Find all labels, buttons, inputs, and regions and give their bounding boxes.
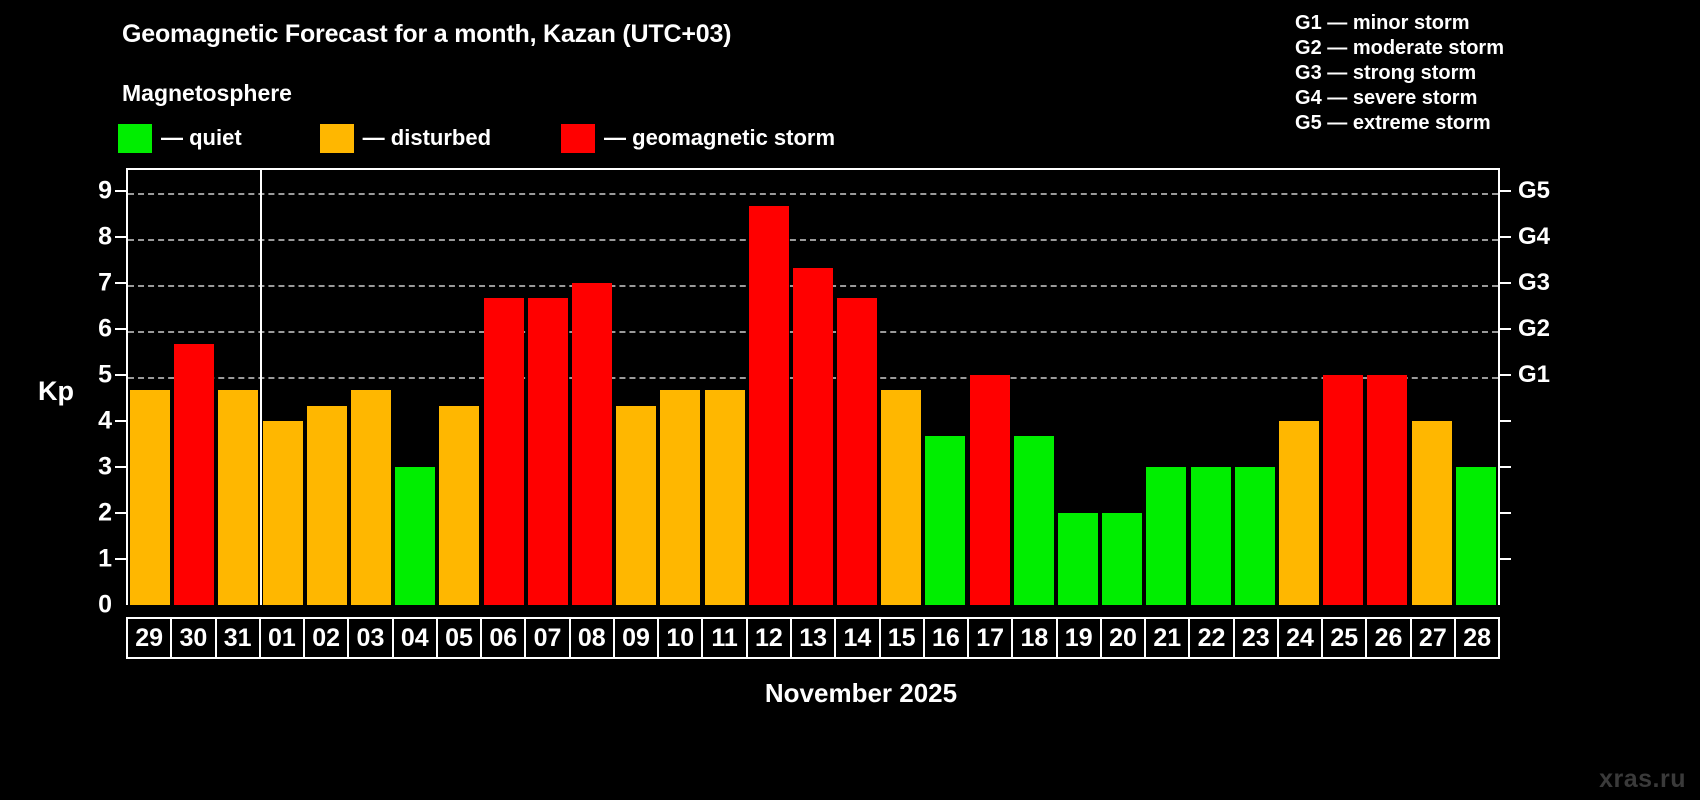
- bar-20[interactable]: [1102, 513, 1142, 605]
- bar-15[interactable]: [881, 390, 921, 605]
- bar-11[interactable]: [705, 390, 745, 605]
- bar-slot-30[interactable]: [172, 170, 216, 605]
- bar-slot-22[interactable]: [1189, 170, 1233, 605]
- date-cell-15[interactable]: 15: [881, 619, 925, 657]
- date-cell-13[interactable]: 13: [792, 619, 836, 657]
- bar-slot-09[interactable]: [614, 170, 658, 605]
- g-scale-axis: G1G2G3G4G5: [1500, 168, 1580, 605]
- legend-item-quiet: — quiet: [118, 124, 242, 153]
- date-cell-21[interactable]: 21: [1146, 619, 1190, 657]
- bar-04[interactable]: [395, 467, 435, 605]
- y-tick-mark-4: [115, 420, 126, 422]
- bar-09[interactable]: [616, 406, 656, 605]
- y-tick-label-8: 8: [98, 223, 112, 252]
- date-cell-12[interactable]: 12: [748, 619, 792, 657]
- legend-swatch-disturbed: [320, 124, 354, 153]
- date-cell-09[interactable]: 09: [615, 619, 659, 657]
- y-axis: 0123456789: [84, 168, 126, 605]
- bar-slot-21[interactable]: [1144, 170, 1188, 605]
- date-cell-05[interactable]: 05: [438, 619, 482, 657]
- bar-slot-17[interactable]: [968, 170, 1012, 605]
- g-tick-mark-G4: [1500, 236, 1511, 238]
- bar-21[interactable]: [1146, 467, 1186, 605]
- date-cell-26[interactable]: 26: [1367, 619, 1411, 657]
- bar-slot-24[interactable]: [1277, 170, 1321, 605]
- bar-slot-15[interactable]: [879, 170, 923, 605]
- g-tick-mark-G5: [1500, 190, 1511, 192]
- y-tick-label-6: 6: [98, 315, 112, 344]
- g-key-row-4: G4 — severe storm: [1295, 86, 1504, 111]
- bar-25[interactable]: [1323, 375, 1363, 605]
- bar-slot-19[interactable]: [1056, 170, 1100, 605]
- date-cell-24[interactable]: 24: [1279, 619, 1323, 657]
- watermark: xras.ru: [1599, 765, 1686, 794]
- bar-slot-20[interactable]: [1100, 170, 1144, 605]
- date-cell-08[interactable]: 08: [571, 619, 615, 657]
- bar-slot-03[interactable]: [349, 170, 393, 605]
- date-cell-31[interactable]: 31: [217, 619, 261, 657]
- bar-slot-02[interactable]: [305, 170, 349, 605]
- x-axis-title: November 2025: [0, 678, 1700, 709]
- bar-27[interactable]: [1412, 421, 1452, 605]
- plot-area: [126, 168, 1500, 605]
- bar-slot-14[interactable]: [835, 170, 879, 605]
- g-key-row-5: G5 — extreme storm: [1295, 111, 1504, 136]
- legend-item-storm: — geomagnetic storm: [561, 124, 835, 153]
- bar-slot-25[interactable]: [1321, 170, 1365, 605]
- bar-29[interactable]: [130, 390, 170, 605]
- bar-slot-31[interactable]: [216, 170, 260, 605]
- bar-03[interactable]: [351, 390, 391, 605]
- date-cell-06[interactable]: 06: [482, 619, 526, 657]
- y-tick-label-3: 3: [98, 453, 112, 482]
- y-tick-label-7: 7: [98, 269, 112, 298]
- y-tick-mark-6: [115, 328, 126, 330]
- date-cell-27[interactable]: 27: [1412, 619, 1456, 657]
- bar-slot-23[interactable]: [1233, 170, 1277, 605]
- bar-23[interactable]: [1235, 467, 1275, 605]
- g-tick-label-G1: G1: [1518, 361, 1550, 389]
- bar-28[interactable]: [1456, 467, 1496, 605]
- bar-01[interactable]: [263, 421, 303, 605]
- g-tick-label-G4: G4: [1518, 223, 1550, 251]
- date-cell-22[interactable]: 22: [1190, 619, 1234, 657]
- bar-14[interactable]: [837, 298, 877, 605]
- bar-19[interactable]: [1058, 513, 1098, 605]
- bar-slot-12[interactable]: [747, 170, 791, 605]
- page-title: Geomagnetic Forecast for a month, Kazan …: [122, 20, 731, 49]
- g-tick-mark-G3: [1500, 282, 1511, 284]
- bar-slot-10[interactable]: [658, 170, 702, 605]
- bar-24[interactable]: [1279, 421, 1319, 605]
- bar-07[interactable]: [528, 298, 568, 605]
- g-minor-tick-kp-2: [1500, 512, 1511, 514]
- y-tick-label-9: 9: [98, 177, 112, 206]
- g-tick-label-G2: G2: [1518, 315, 1550, 343]
- date-cell-29[interactable]: 29: [128, 619, 172, 657]
- date-cell-17[interactable]: 17: [969, 619, 1013, 657]
- date-cell-01[interactable]: 01: [261, 619, 305, 657]
- bar-06[interactable]: [484, 298, 524, 605]
- bar-slot-27[interactable]: [1409, 170, 1453, 605]
- date-cell-11[interactable]: 11: [703, 619, 747, 657]
- bar-slot-04[interactable]: [393, 170, 437, 605]
- magnetosphere-label: Magnetosphere: [122, 80, 292, 107]
- legend: — quiet— disturbed— geomagnetic storm: [118, 122, 835, 154]
- y-tick-mark-7: [115, 282, 126, 284]
- bar-slot-18[interactable]: [1012, 170, 1056, 605]
- y-tick-label-1: 1: [98, 545, 112, 574]
- y-axis-title: Kp: [38, 376, 74, 407]
- bar-slot-05[interactable]: [437, 170, 481, 605]
- bar-slot-13[interactable]: [791, 170, 835, 605]
- date-cell-23[interactable]: 23: [1235, 619, 1279, 657]
- bar-31[interactable]: [218, 390, 258, 605]
- g-key-row-1: G1 — minor storm: [1295, 11, 1504, 36]
- bar-slot-11[interactable]: [702, 170, 746, 605]
- bar-slot-16[interactable]: [923, 170, 967, 605]
- bar-slot-29[interactable]: [128, 170, 172, 605]
- g-scale-key: G1 — minor stormG2 — moderate stormG3 — …: [1295, 11, 1504, 136]
- date-cell-04[interactable]: 04: [394, 619, 438, 657]
- g-tick-mark-G2: [1500, 328, 1511, 330]
- bar-30[interactable]: [174, 344, 214, 605]
- date-cell-28[interactable]: 28: [1456, 619, 1498, 657]
- bar-02[interactable]: [307, 406, 347, 605]
- date-cell-16[interactable]: 16: [925, 619, 969, 657]
- date-cell-10[interactable]: 10: [659, 619, 703, 657]
- bar-13[interactable]: [793, 268, 833, 605]
- date-cell-19[interactable]: 19: [1058, 619, 1102, 657]
- bar-05[interactable]: [439, 406, 479, 605]
- date-cell-07[interactable]: 07: [526, 619, 570, 657]
- bar-slot-01[interactable]: [261, 170, 305, 605]
- date-cell-20[interactable]: 20: [1102, 619, 1146, 657]
- date-cell-30[interactable]: 30: [172, 619, 216, 657]
- g-tick-mark-G1: [1500, 374, 1511, 376]
- bar-slot-06[interactable]: [482, 170, 526, 605]
- g-tick-label-G5: G5: [1518, 177, 1550, 205]
- g-tick-label-G3: G3: [1518, 269, 1550, 297]
- date-cell-14[interactable]: 14: [836, 619, 880, 657]
- bar-16[interactable]: [925, 436, 965, 605]
- date-cell-03[interactable]: 03: [349, 619, 393, 657]
- bar-slot-08[interactable]: [570, 170, 614, 605]
- legend-label-storm: — geomagnetic storm: [604, 127, 835, 149]
- g-minor-tick-kp-3: [1500, 466, 1511, 468]
- y-tick-mark-8: [115, 236, 126, 238]
- legend-swatch-quiet: [118, 124, 152, 153]
- bar-26[interactable]: [1367, 375, 1407, 605]
- y-tick-label-5: 5: [98, 361, 112, 390]
- g-key-row-2: G2 — moderate storm: [1295, 36, 1504, 61]
- y-tick-mark-5: [115, 374, 126, 376]
- x-axis-title-text: November 2025: [765, 678, 957, 709]
- y-tick-mark-3: [115, 466, 126, 468]
- date-axis: 2930310102030405060708091011121314151617…: [126, 617, 1500, 659]
- date-cell-25[interactable]: 25: [1323, 619, 1367, 657]
- bar-17[interactable]: [970, 375, 1010, 605]
- bar-12[interactable]: [749, 206, 789, 605]
- bar-08[interactable]: [572, 283, 612, 605]
- y-tick-mark-2: [115, 512, 126, 514]
- legend-label-disturbed: — disturbed: [363, 127, 491, 149]
- plot-inner: [128, 170, 1498, 605]
- y-tick-label-2: 2: [98, 499, 112, 528]
- legend-label-quiet: — quiet: [161, 127, 242, 149]
- y-tick-mark-9: [115, 190, 126, 192]
- bar-slot-28[interactable]: [1454, 170, 1498, 605]
- bar-slot-07[interactable]: [526, 170, 570, 605]
- bar-22[interactable]: [1191, 467, 1231, 605]
- g-minor-tick-kp-4: [1500, 420, 1511, 422]
- date-cell-18[interactable]: 18: [1013, 619, 1057, 657]
- bar-10[interactable]: [660, 390, 700, 605]
- date-cell-02[interactable]: 02: [305, 619, 349, 657]
- y-tick-mark-1: [115, 558, 126, 560]
- bar-series: [128, 170, 1498, 605]
- legend-swatch-storm: [561, 124, 595, 153]
- bar-slot-26[interactable]: [1365, 170, 1409, 605]
- legend-item-disturbed: — disturbed: [320, 124, 491, 153]
- y-tick-label-0: 0: [98, 591, 112, 620]
- g-key-row-3: G3 — strong storm: [1295, 61, 1504, 86]
- g-minor-tick-kp-1: [1500, 558, 1511, 560]
- y-tick-label-4: 4: [98, 407, 112, 436]
- bar-18[interactable]: [1014, 436, 1054, 605]
